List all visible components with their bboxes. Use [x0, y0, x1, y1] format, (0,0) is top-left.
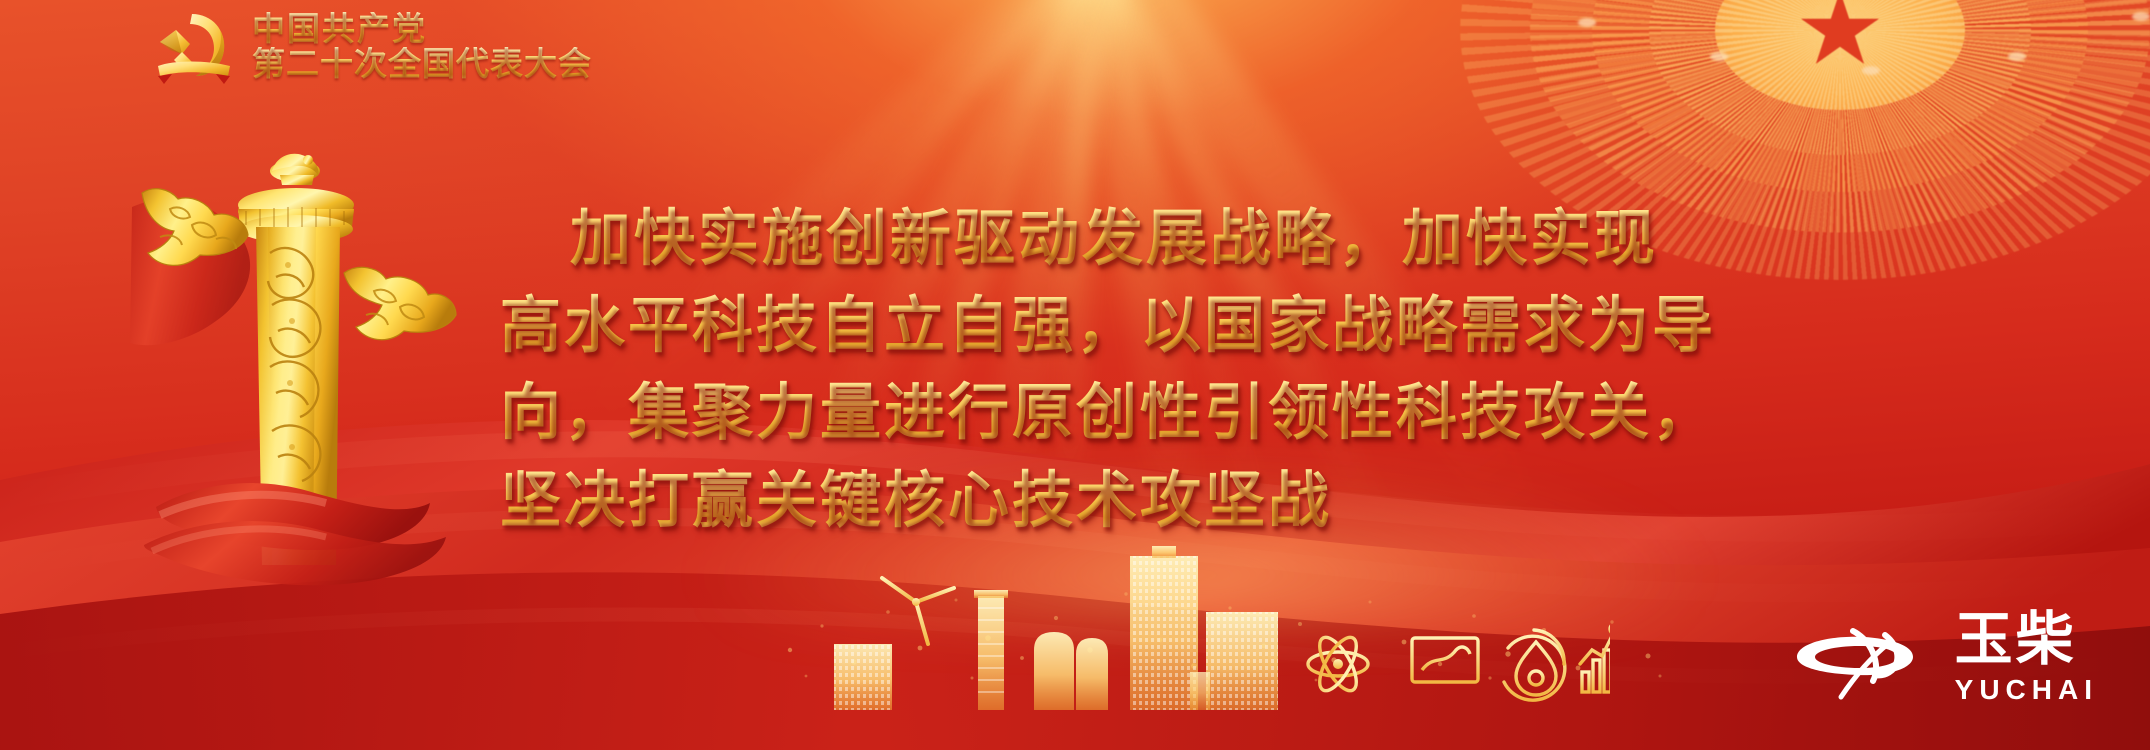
skyscraper-icon: [1130, 546, 1198, 710]
monitor-icon: [1412, 638, 1478, 694]
tower-building-icon: [974, 590, 1008, 710]
yuchai-logo: 玉柴 YUCHAI: [1789, 610, 2098, 708]
yuchai-ellipse-mark: [1789, 613, 1939, 705]
growth-chart-icon: [1580, 624, 1610, 692]
office-tower-icon: [1190, 612, 1278, 710]
slogan-line-2: 高水平科技自立自强，以国家战略需求为导: [500, 282, 1750, 369]
slogan-line-4: 坚决打赢关键核心技术攻坚战: [500, 457, 1750, 544]
party-emblem-block: 中国共产党 第二十次全国代表大会: [152, 8, 592, 86]
low-building-icon: [834, 644, 892, 710]
logo-name-en: YUCHAI: [1955, 672, 2098, 708]
huabiao-column-icon: [130, 145, 460, 615]
hammer-and-sickle-icon: [152, 8, 238, 86]
gate-building-icon: [1034, 632, 1108, 710]
emblem-line-2: 第二十次全国代表大会: [252, 47, 592, 82]
slogan-line-3: 向，集聚力量进行原创性引领性科技攻关，: [500, 369, 1750, 456]
skyline-graphic: [820, 532, 1610, 712]
emblem-line-1: 中国共产党: [252, 12, 592, 47]
banner-root: 中国共产党 第二十次全国代表大会 加快实施创新驱动发展战略，加快实现 高水平科技…: [0, 0, 2150, 750]
wind-turbine-icon: [882, 578, 954, 710]
slogan-line-1: 加快实施创新驱动发展战略，加快实现: [500, 195, 1750, 282]
slogan-block: 加快实施创新驱动发展战略，加快实现 高水平科技自立自强，以国家战略需求为导 向，…: [500, 195, 1750, 544]
logo-name-cn: 玉柴: [1955, 610, 2077, 668]
atom-icon: [1308, 632, 1368, 696]
energy-droplet-icon: [1504, 630, 1565, 700]
